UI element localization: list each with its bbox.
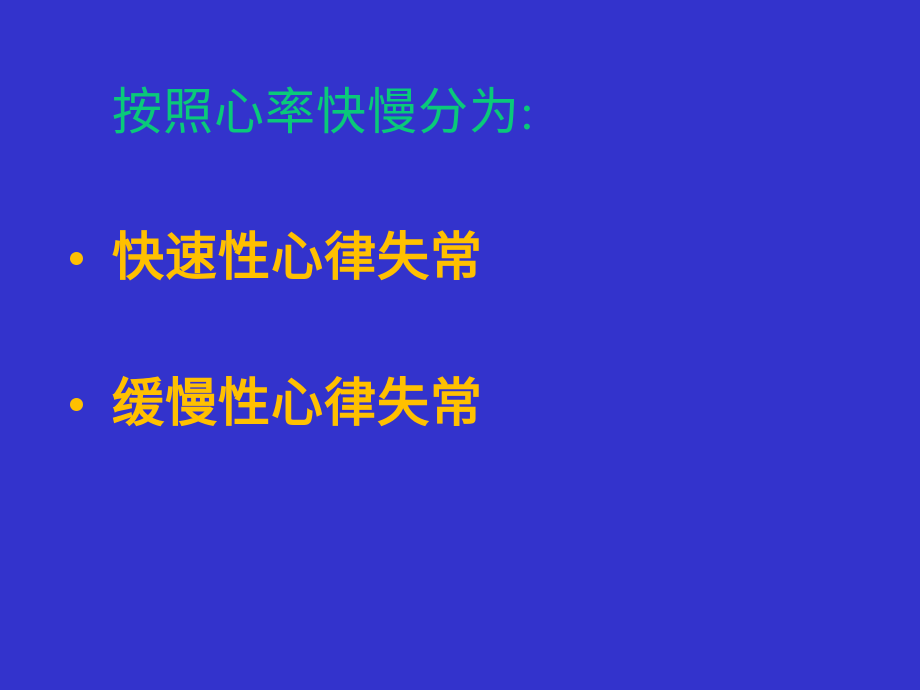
presentation-slide: 按照心率快慢分为: 快速性心律失常 缓慢性心律失常 [0, 0, 920, 690]
bullet-list: 快速性心律失常 缓慢性心律失常 [58, 222, 858, 440]
page-title: 按照心率快慢分为: [112, 82, 812, 142]
list-item: 缓慢性心律失常 [58, 368, 858, 440]
list-item-label: 缓慢性心律失常 [112, 374, 483, 434]
slide-title-block: 按照心率快慢分为: [112, 82, 812, 152]
bullet-dot-icon [70, 252, 83, 265]
list-item-label: 快速性心律失常 [112, 228, 483, 288]
list-item: 快速性心律失常 [58, 222, 858, 294]
bullet-dot-icon [70, 398, 83, 411]
